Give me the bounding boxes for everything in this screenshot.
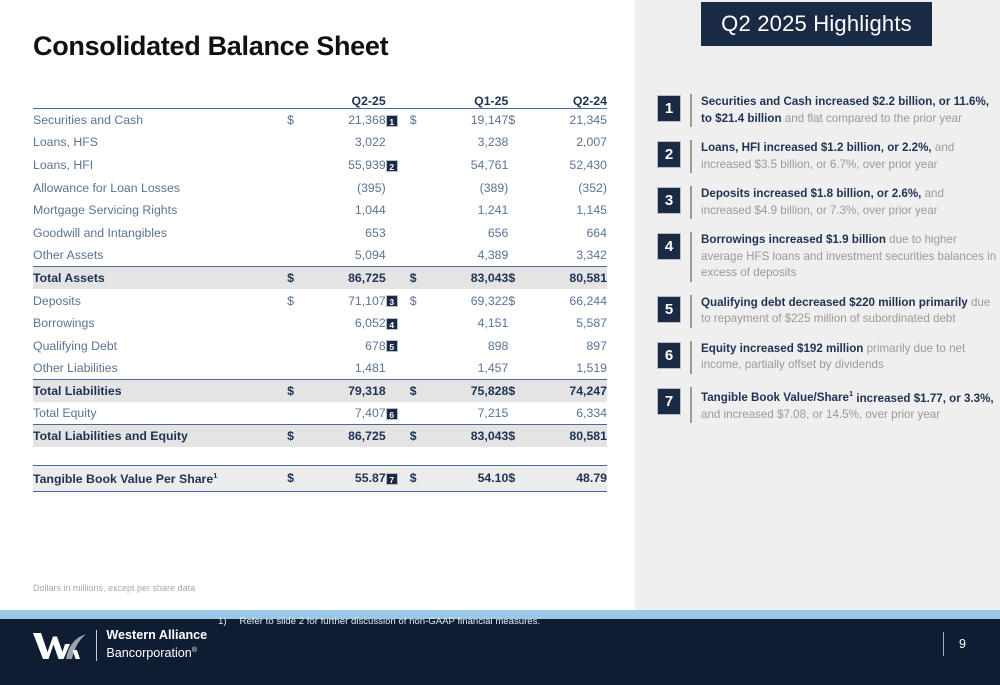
cell-currency [287, 334, 307, 357]
highlight-item: 3Deposits increased $1.8 billion, or 2.6… [657, 186, 997, 219]
logo-wordmark: Western Alliance Bancorporation® [106, 628, 207, 661]
cell-badge: 2 [386, 154, 410, 177]
cell-currency: $ [410, 289, 428, 312]
cell-value: 21,368 [307, 109, 386, 132]
cell-currency: $ [287, 465, 307, 491]
row-label: Other Liabilities [33, 357, 287, 380]
cell-value: 19,147 [427, 109, 508, 132]
highlight-divider [690, 232, 692, 282]
cell-currency: $ [508, 267, 526, 290]
cell-value: 52,430 [526, 154, 607, 177]
cell-value: 80,581 [526, 267, 607, 290]
highlight-bold: Borrowings increased $1.9 billion [701, 233, 886, 246]
units-note: Dollars in millions, except per share da… [33, 583, 195, 593]
table-row: Goodwill and Intangibles653656664 [33, 221, 607, 244]
cell-badge [386, 357, 410, 380]
cell-value: 5,094 [307, 244, 386, 267]
cell-currency [287, 199, 307, 222]
cell-value: 6,334 [526, 402, 607, 425]
cell-value: 5,587 [526, 312, 607, 335]
table-row: Loans, HFS3,0223,2382,007 [33, 131, 607, 154]
row-label: Other Assets [33, 244, 287, 267]
highlights-panel: Q2 2025 Highlights 1Securities and Cash … [635, 0, 1000, 610]
cell-value: 1,519 [526, 357, 607, 380]
balance-sheet-table: Q2-25 Q1-25 Q2-24 Securities and Cash$21… [33, 94, 607, 492]
row-label: Loans, HFI [33, 154, 287, 177]
table-spacer [33, 447, 607, 465]
cell-currency [287, 221, 307, 244]
cell-value: 55.87 [307, 465, 386, 491]
cell-value: 55,939 [307, 154, 386, 177]
highlight-text: Equity increased $192 million primarily … [701, 341, 997, 374]
registered-mark-icon: ® [192, 647, 197, 654]
highlight-bold: Loans, HFI increased $1.2 billion, or 2.… [701, 141, 932, 154]
cell-value: 678 [307, 334, 386, 357]
cell-value: 664 [526, 221, 607, 244]
cell-currency: $ [287, 109, 307, 132]
page-title: Consolidated Balance Sheet [33, 31, 388, 62]
cell-currency [410, 176, 428, 199]
cell-currency [508, 402, 526, 425]
cell-currency [410, 402, 428, 425]
highlight-item: 7Tangible Book Value/Share1 increased $1… [657, 387, 997, 424]
table-header-row: Q2-25 Q1-25 Q2-24 [33, 94, 607, 108]
row-label: Loans, HFS [33, 131, 287, 154]
row-label: Securities and Cash [33, 109, 287, 132]
cell-value: 74,247 [526, 380, 607, 403]
cell-value: 54,761 [427, 154, 508, 177]
cell-value: 54.10 [427, 465, 508, 491]
column-header-q2-25: Q2-25 [307, 94, 386, 108]
cell-value: 897 [526, 334, 607, 357]
highlight-bold: increased $1.77, or 3.3%, [853, 391, 994, 404]
logo-line-1: Western Alliance [106, 628, 207, 643]
cell-currency: $ [287, 289, 307, 312]
cell-value: 1,044 [307, 199, 386, 222]
column-header-q2-24: Q2-24 [526, 94, 607, 108]
highlight-divider [690, 186, 692, 219]
reference-badge: 3 [386, 295, 398, 307]
cell-value: 66,244 [526, 289, 607, 312]
cell-value: (389) [427, 176, 508, 199]
cell-currency [508, 334, 526, 357]
cell-value: (352) [526, 176, 607, 199]
cell-badge: 5 [386, 334, 410, 357]
cell-value: (395) [307, 176, 386, 199]
cell-badge [386, 267, 410, 290]
cell-currency [508, 199, 526, 222]
cell-value: 656 [427, 221, 508, 244]
logo-line-2: Bancorporation® [106, 643, 207, 661]
column-header-blank [33, 94, 287, 108]
cell-currency [410, 131, 428, 154]
cell-value: 6,052 [307, 312, 386, 335]
cell-badge [386, 199, 410, 222]
footnote-number: 1) [218, 616, 227, 627]
cell-value: 80,581 [526, 425, 607, 448]
cell-value: 48.79 [526, 465, 607, 491]
cell-badge [386, 380, 410, 403]
highlight-badge: 7 [657, 388, 681, 415]
cell-badge [386, 244, 410, 267]
cell-value: 7,215 [427, 402, 508, 425]
highlight-badge: 5 [657, 296, 681, 323]
table-row: Other Assets5,0944,3893,342 [33, 244, 607, 267]
row-label: Goodwill and Intangibles [33, 221, 287, 244]
row-label: Total Liabilities and Equity [33, 425, 287, 448]
highlight-divider [690, 94, 692, 127]
row-label: Allowance for Loan Losses [33, 176, 287, 199]
balance-sheet-panel: Consolidated Balance Sheet Q2-25 Q1-25 Q… [0, 0, 635, 610]
highlight-item: 6Equity increased $192 million primarily… [657, 341, 997, 374]
row-label: Total Assets [33, 267, 287, 290]
highlight-badge: 1 [657, 95, 681, 122]
reference-badge: 2 [386, 160, 398, 172]
highlight-text: Tangible Book Value/Share1 increased $1.… [701, 387, 997, 424]
cell-currency [508, 176, 526, 199]
highlight-badge: 2 [657, 141, 681, 168]
highlight-divider [690, 341, 692, 374]
highlight-text: Qualifying debt decreased $220 million p… [701, 295, 997, 328]
reference-badge: 1 [386, 115, 398, 127]
table-row: Total Liabilities and Equity$86,725$83,0… [33, 425, 607, 448]
table-row: Qualifying Debt6785898897 [33, 334, 607, 357]
company-logo: Western Alliance Bancorporation® [32, 628, 207, 662]
cell-currency [287, 154, 307, 177]
reference-badge: 5 [386, 340, 398, 352]
cell-value: 86,725 [307, 267, 386, 290]
footnote-marker: 1 [213, 471, 217, 480]
cell-value: 21,345 [526, 109, 607, 132]
table-row: Total Equity7,40767,2156,334 [33, 402, 607, 425]
highlight-text: Deposits increased $1.8 billion, or 2.6%… [701, 186, 997, 219]
cell-currency: $ [410, 425, 428, 448]
highlights-header: Q2 2025 Highlights [701, 2, 932, 46]
page-number: 9 [959, 637, 966, 651]
row-label: Mortgage Servicing Rights [33, 199, 287, 222]
cell-currency [410, 357, 428, 380]
cell-currency: $ [508, 380, 526, 403]
cell-value: 2,007 [526, 131, 607, 154]
row-label: Total Equity [33, 402, 287, 425]
highlight-item: 1Securities and Cash increased $2.2 bill… [657, 94, 997, 127]
cell-currency [410, 154, 428, 177]
cell-currency [410, 244, 428, 267]
highlight-divider [690, 295, 692, 328]
cell-value: 83,043 [427, 267, 508, 290]
highlight-rest: and increased $7.08, or 14.5%, over prio… [701, 408, 940, 421]
cell-currency [508, 244, 526, 267]
cell-value: 3,342 [526, 244, 607, 267]
cell-currency: $ [508, 425, 526, 448]
cell-currency: $ [287, 380, 307, 403]
table-body: Securities and Cash$21,3681$19,147$21,34… [33, 109, 607, 492]
cell-badge [386, 425, 410, 448]
highlight-divider [690, 140, 692, 173]
highlights-list: 1Securities and Cash increased $2.2 bill… [657, 94, 997, 436]
highlight-text: Loans, HFI increased $1.2 billion, or 2.… [701, 140, 997, 173]
footnote-text: Refer to slide 2 for further discussion … [240, 616, 541, 627]
cell-value: 1,145 [526, 199, 607, 222]
cell-currency: $ [287, 267, 307, 290]
footnote: 1)Refer to slide 2 for further discussio… [218, 616, 540, 627]
cell-currency: $ [410, 267, 428, 290]
cell-currency: $ [508, 465, 526, 491]
table-row: Tangible Book Value Per Share1$55.877$54… [33, 465, 607, 491]
cell-currency: $ [410, 465, 428, 491]
cell-value: 653 [307, 221, 386, 244]
cell-currency [287, 312, 307, 335]
reference-badge: 4 [386, 318, 398, 330]
cell-value: 1,481 [307, 357, 386, 380]
highlight-badge: 6 [657, 342, 681, 369]
page-number-divider [943, 632, 944, 656]
row-label: Deposits [33, 289, 287, 312]
cell-currency: $ [410, 380, 428, 403]
cell-value: 83,043 [427, 425, 508, 448]
table-row: Allowance for Loan Losses(395)(389)(352) [33, 176, 607, 199]
cell-value: 3,238 [427, 131, 508, 154]
highlight-badge: 3 [657, 187, 681, 214]
cell-value: 86,725 [307, 425, 386, 448]
cell-currency [287, 244, 307, 267]
cell-value: 79,318 [307, 380, 386, 403]
highlight-item: 2Loans, HFI increased $1.2 billion, or 2… [657, 140, 997, 173]
table-row: Other Liabilities1,4811,4571,519 [33, 357, 607, 380]
cell-badge: 7 [386, 465, 410, 491]
cell-currency [287, 131, 307, 154]
cell-currency [287, 402, 307, 425]
cell-badge [386, 176, 410, 199]
cell-currency [410, 199, 428, 222]
table-row: Total Liabilities$79,318$75,828$74,247 [33, 380, 607, 403]
cell-badge [386, 131, 410, 154]
cell-currency [508, 312, 526, 335]
row-label: Total Liabilities [33, 380, 287, 403]
highlight-bold: Qualifying debt decreased $220 million p… [701, 296, 968, 309]
cell-currency [287, 176, 307, 199]
highlight-text: Securities and Cash increased $2.2 billi… [701, 94, 997, 127]
highlight-badge: 4 [657, 233, 681, 260]
cell-badge: 3 [386, 289, 410, 312]
cell-value: 1,241 [427, 199, 508, 222]
western-alliance-wa-logo-icon [32, 628, 90, 662]
highlight-rest: and flat compared to the prior year [782, 112, 962, 125]
cell-badge: 1 [386, 109, 410, 132]
cell-badge [386, 221, 410, 244]
cell-value: 75,828 [427, 380, 508, 403]
cell-value: 4,151 [427, 312, 508, 335]
cell-currency: $ [508, 289, 526, 312]
cell-value: 69,322 [427, 289, 508, 312]
cell-currency [287, 357, 307, 380]
cell-badge: 6 [386, 402, 410, 425]
highlight-divider [690, 387, 692, 424]
table-row: Loans, HFI55,939254,76152,430 [33, 154, 607, 177]
reference-badge: 7 [386, 473, 398, 485]
highlight-text: Borrowings increased $1.9 billion due to… [701, 232, 997, 282]
cell-currency [508, 221, 526, 244]
column-header-q1-25: Q1-25 [427, 94, 508, 108]
row-label: Tangible Book Value Per Share1 [33, 465, 287, 491]
highlight-bold-lead: Tangible Book Value/Share1 [701, 391, 853, 404]
logo-divider [96, 630, 97, 661]
cell-badge: 4 [386, 312, 410, 335]
reference-badge: 6 [386, 408, 398, 420]
table-row: Total Assets$86,725$83,043$80,581 [33, 267, 607, 290]
cell-value: 71,107 [307, 289, 386, 312]
table-row: Deposits$71,1073$69,322$66,244 [33, 289, 607, 312]
table-row: Borrowings6,05244,1515,587 [33, 312, 607, 335]
table-row: Mortgage Servicing Rights1,0441,2411,145 [33, 199, 607, 222]
highlight-item: 4Borrowings increased $1.9 billion due t… [657, 232, 997, 282]
row-label: Borrowings [33, 312, 287, 335]
cell-value: 7,407 [307, 402, 386, 425]
highlight-item: 5Qualifying debt decreased $220 million … [657, 295, 997, 328]
cell-value: 898 [427, 334, 508, 357]
cell-currency [410, 221, 428, 244]
cell-currency: $ [287, 425, 307, 448]
highlight-bold: Deposits increased $1.8 billion, or 2.6%… [701, 187, 921, 200]
cell-currency [508, 154, 526, 177]
cell-value: 4,389 [427, 244, 508, 267]
cell-currency [508, 357, 526, 380]
cell-value: 3,022 [307, 131, 386, 154]
cell-value: 1,457 [427, 357, 508, 380]
highlight-bold: Equity increased $192 million [701, 342, 863, 355]
cell-currency [508, 131, 526, 154]
cell-currency [410, 312, 428, 335]
row-label: Qualifying Debt [33, 334, 287, 357]
cell-currency [410, 334, 428, 357]
cell-currency: $ [508, 109, 526, 132]
cell-currency: $ [410, 109, 428, 132]
table-row: Securities and Cash$21,3681$19,147$21,34… [33, 109, 607, 132]
